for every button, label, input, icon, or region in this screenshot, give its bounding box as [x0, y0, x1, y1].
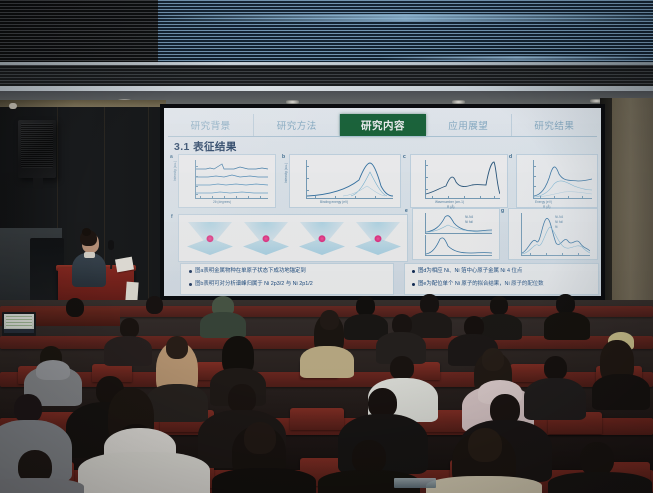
audience-body-white-front [78, 452, 210, 493]
panel-label-f: f [171, 214, 173, 220]
panel-b-xlabel: Binding energy (eV) [320, 200, 348, 204]
audience-head [544, 356, 567, 380]
wall-speaker [18, 120, 56, 178]
audience-head [556, 294, 575, 314]
figure-panel-d: d Energy (eV) [516, 154, 598, 208]
audience-head [14, 394, 42, 423]
bullet-text: 图e为配位单个 Ni 原子的拟合结果，Ni 原子的配位数 [418, 281, 544, 288]
audience-body-cream-front [426, 476, 542, 493]
audience-head [228, 384, 256, 413]
audience-body [544, 312, 590, 340]
audience-head-front [580, 442, 614, 476]
panel-g-legend-2: Ni foil [555, 220, 563, 224]
audience-head [166, 336, 188, 359]
bullet-item: 图a表明金属物种在单原子状态下成功地锚定到 [189, 268, 306, 275]
bullet-item: 图d为相应 Ni、Ni 箔中心原子金属 Ni 4 位点 [412, 268, 522, 275]
audience-head [120, 318, 139, 338]
ceiling-highlight [158, 14, 653, 21]
audience-head [320, 310, 339, 330]
audience-head [490, 296, 508, 315]
panel-c-xlabel: Wavenumber (cm-1) [435, 200, 464, 204]
panel-a-xlabel: 2θ (degrees) [213, 200, 231, 204]
panel-d-xlabel: Energy (eV) [535, 200, 552, 204]
figure-panel-b: b Binding energy (eV) Intensity (a.u.) [289, 154, 401, 208]
panel-label-b: b [282, 154, 285, 160]
audience-body [592, 374, 650, 410]
ceiling-lower-band [0, 65, 653, 87]
ceiling-camera-icon [9, 103, 17, 109]
seat [290, 408, 344, 430]
auditorium-floor [0, 300, 653, 493]
presenter-hair-bun [82, 228, 91, 236]
slide-tab-background[interactable]: 研究背景 [168, 114, 254, 136]
bullet-text: 图a表明金属物种在单原子状态下成功地锚定到 [195, 268, 306, 275]
projection-screen: 研究背景 研究方法 研究内容 应用展望 研究结果 3.1 表征结果 a [164, 108, 601, 296]
surface-plot-2 [239, 218, 293, 258]
audience-head [420, 294, 439, 314]
bullet-text: 图b表明可对分析谱峰归属于 Ni 2p3/2 与 Ni 2p1/2 [195, 281, 313, 288]
panel-a-ylabel: Intensity (a.u.) [173, 161, 177, 181]
panel-g-legend: Ni-N4 [555, 215, 563, 219]
microphone-icon [108, 240, 114, 250]
panel-label-c: c [403, 154, 406, 160]
audience-head [146, 296, 163, 314]
audience-head [356, 296, 375, 316]
audience-head [482, 348, 504, 371]
panel-label-e: e [405, 208, 408, 214]
panel-e-legend-2: Ni foil [465, 220, 473, 224]
bullet-box-left: 图a表明金属物种在单原子状态下成功地锚定到 图b表明可对分析谱峰归属于 Ni 2… [180, 263, 394, 295]
audience-head-front [468, 428, 502, 462]
audience-hood-grey [36, 360, 70, 380]
audience-body [146, 384, 208, 422]
slide-tab-underline [168, 136, 597, 137]
panel-e-axes-2 [425, 235, 492, 256]
panel-label-g: g [501, 208, 504, 214]
surface-plot-4 [351, 218, 405, 258]
panel-a-axes [195, 160, 268, 199]
slide-tab-outlook[interactable]: 应用展望 [426, 114, 512, 136]
surface-plot-1 [183, 218, 237, 258]
panel-c-axes [425, 160, 500, 199]
panel-e-legend: Ni-N4 [465, 215, 473, 219]
audience-body-front [0, 478, 84, 493]
figure-panel-f: f [178, 214, 408, 262]
audience-body [524, 378, 586, 420]
bullet-dot [189, 270, 192, 273]
panel-label-d: d [509, 154, 512, 160]
ceiling-highlight-2 [380, 56, 653, 60]
wall-seam [148, 107, 149, 307]
presenter-body [72, 253, 106, 287]
panel-label-a: a [170, 154, 173, 160]
audience-head [66, 298, 84, 317]
wall-speaker-mount [33, 178, 43, 189]
slide-tab-content-active[interactable]: 研究内容 [340, 114, 425, 136]
slide-tab-results[interactable]: 研究结果 [512, 114, 597, 136]
audience-head [390, 356, 414, 380]
presenter-collar [84, 252, 95, 258]
panel-g-xlabel: R (Å) [543, 205, 550, 209]
slide-tab-method[interactable]: 研究方法 [254, 114, 340, 136]
bullet-dot [412, 270, 415, 273]
bullet-box-right: 图d为相应 Ni、Ni 箔中心原子金属 Ni 4 位点 图e为配位单个 Ni 原… [404, 263, 599, 295]
panel-e-axes [425, 213, 492, 234]
figure-panel-e: e Ni-N4 Ni foil R (Å) [412, 208, 500, 260]
bullet-dot [189, 283, 192, 286]
bullet-text: 图d为相应 Ni、Ni 箔中心原子金属 Ni 4 位点 [418, 268, 522, 275]
audience-body-front [548, 472, 652, 493]
conference-room-photo: 研究背景 研究方法 研究内容 应用展望 研究结果 3.1 表征结果 a [0, 0, 653, 493]
panel-d-axes [533, 160, 592, 199]
audience-body [104, 336, 152, 366]
slide-heading: 3.1 表征结果 [174, 139, 237, 154]
panel-b-axes [306, 160, 393, 199]
panel-b-ylabel: Intensity (a.u.) [284, 163, 288, 183]
slide-tab-bar: 研究背景 研究方法 研究内容 应用展望 研究结果 [168, 114, 597, 136]
bullet-item: 图b表明可对分析谱峰归属于 Ni 2p3/2 与 Ni 2p1/2 [189, 281, 313, 288]
audience-body-front [212, 468, 316, 493]
laptop-taskbar [4, 329, 34, 333]
laptop-screen-content [6, 316, 32, 328]
figure-panel-g: g Ni-N4 Ni foil fit R (Å) [508, 208, 598, 260]
bullet-dot [412, 283, 415, 286]
bullet-item: 图e为配位单个 Ni 原子的拟合结果，Ni 原子的配位数 [412, 281, 544, 288]
audience-body [200, 312, 246, 338]
audience-body-tan [300, 346, 354, 378]
tablet-screen [394, 478, 436, 488]
audience-head-front [352, 440, 386, 474]
audience-head-front [244, 422, 276, 454]
surface-plot-3 [295, 218, 349, 258]
figure-panel-a: a 2θ (degrees) Intensity (a.u.) [178, 154, 276, 208]
panel-g-legend-3: fit [555, 225, 557, 229]
figure-panel-c: c Wavenumber (cm-1) [410, 154, 508, 208]
panel-e-xlabel: R (Å) [447, 205, 454, 209]
